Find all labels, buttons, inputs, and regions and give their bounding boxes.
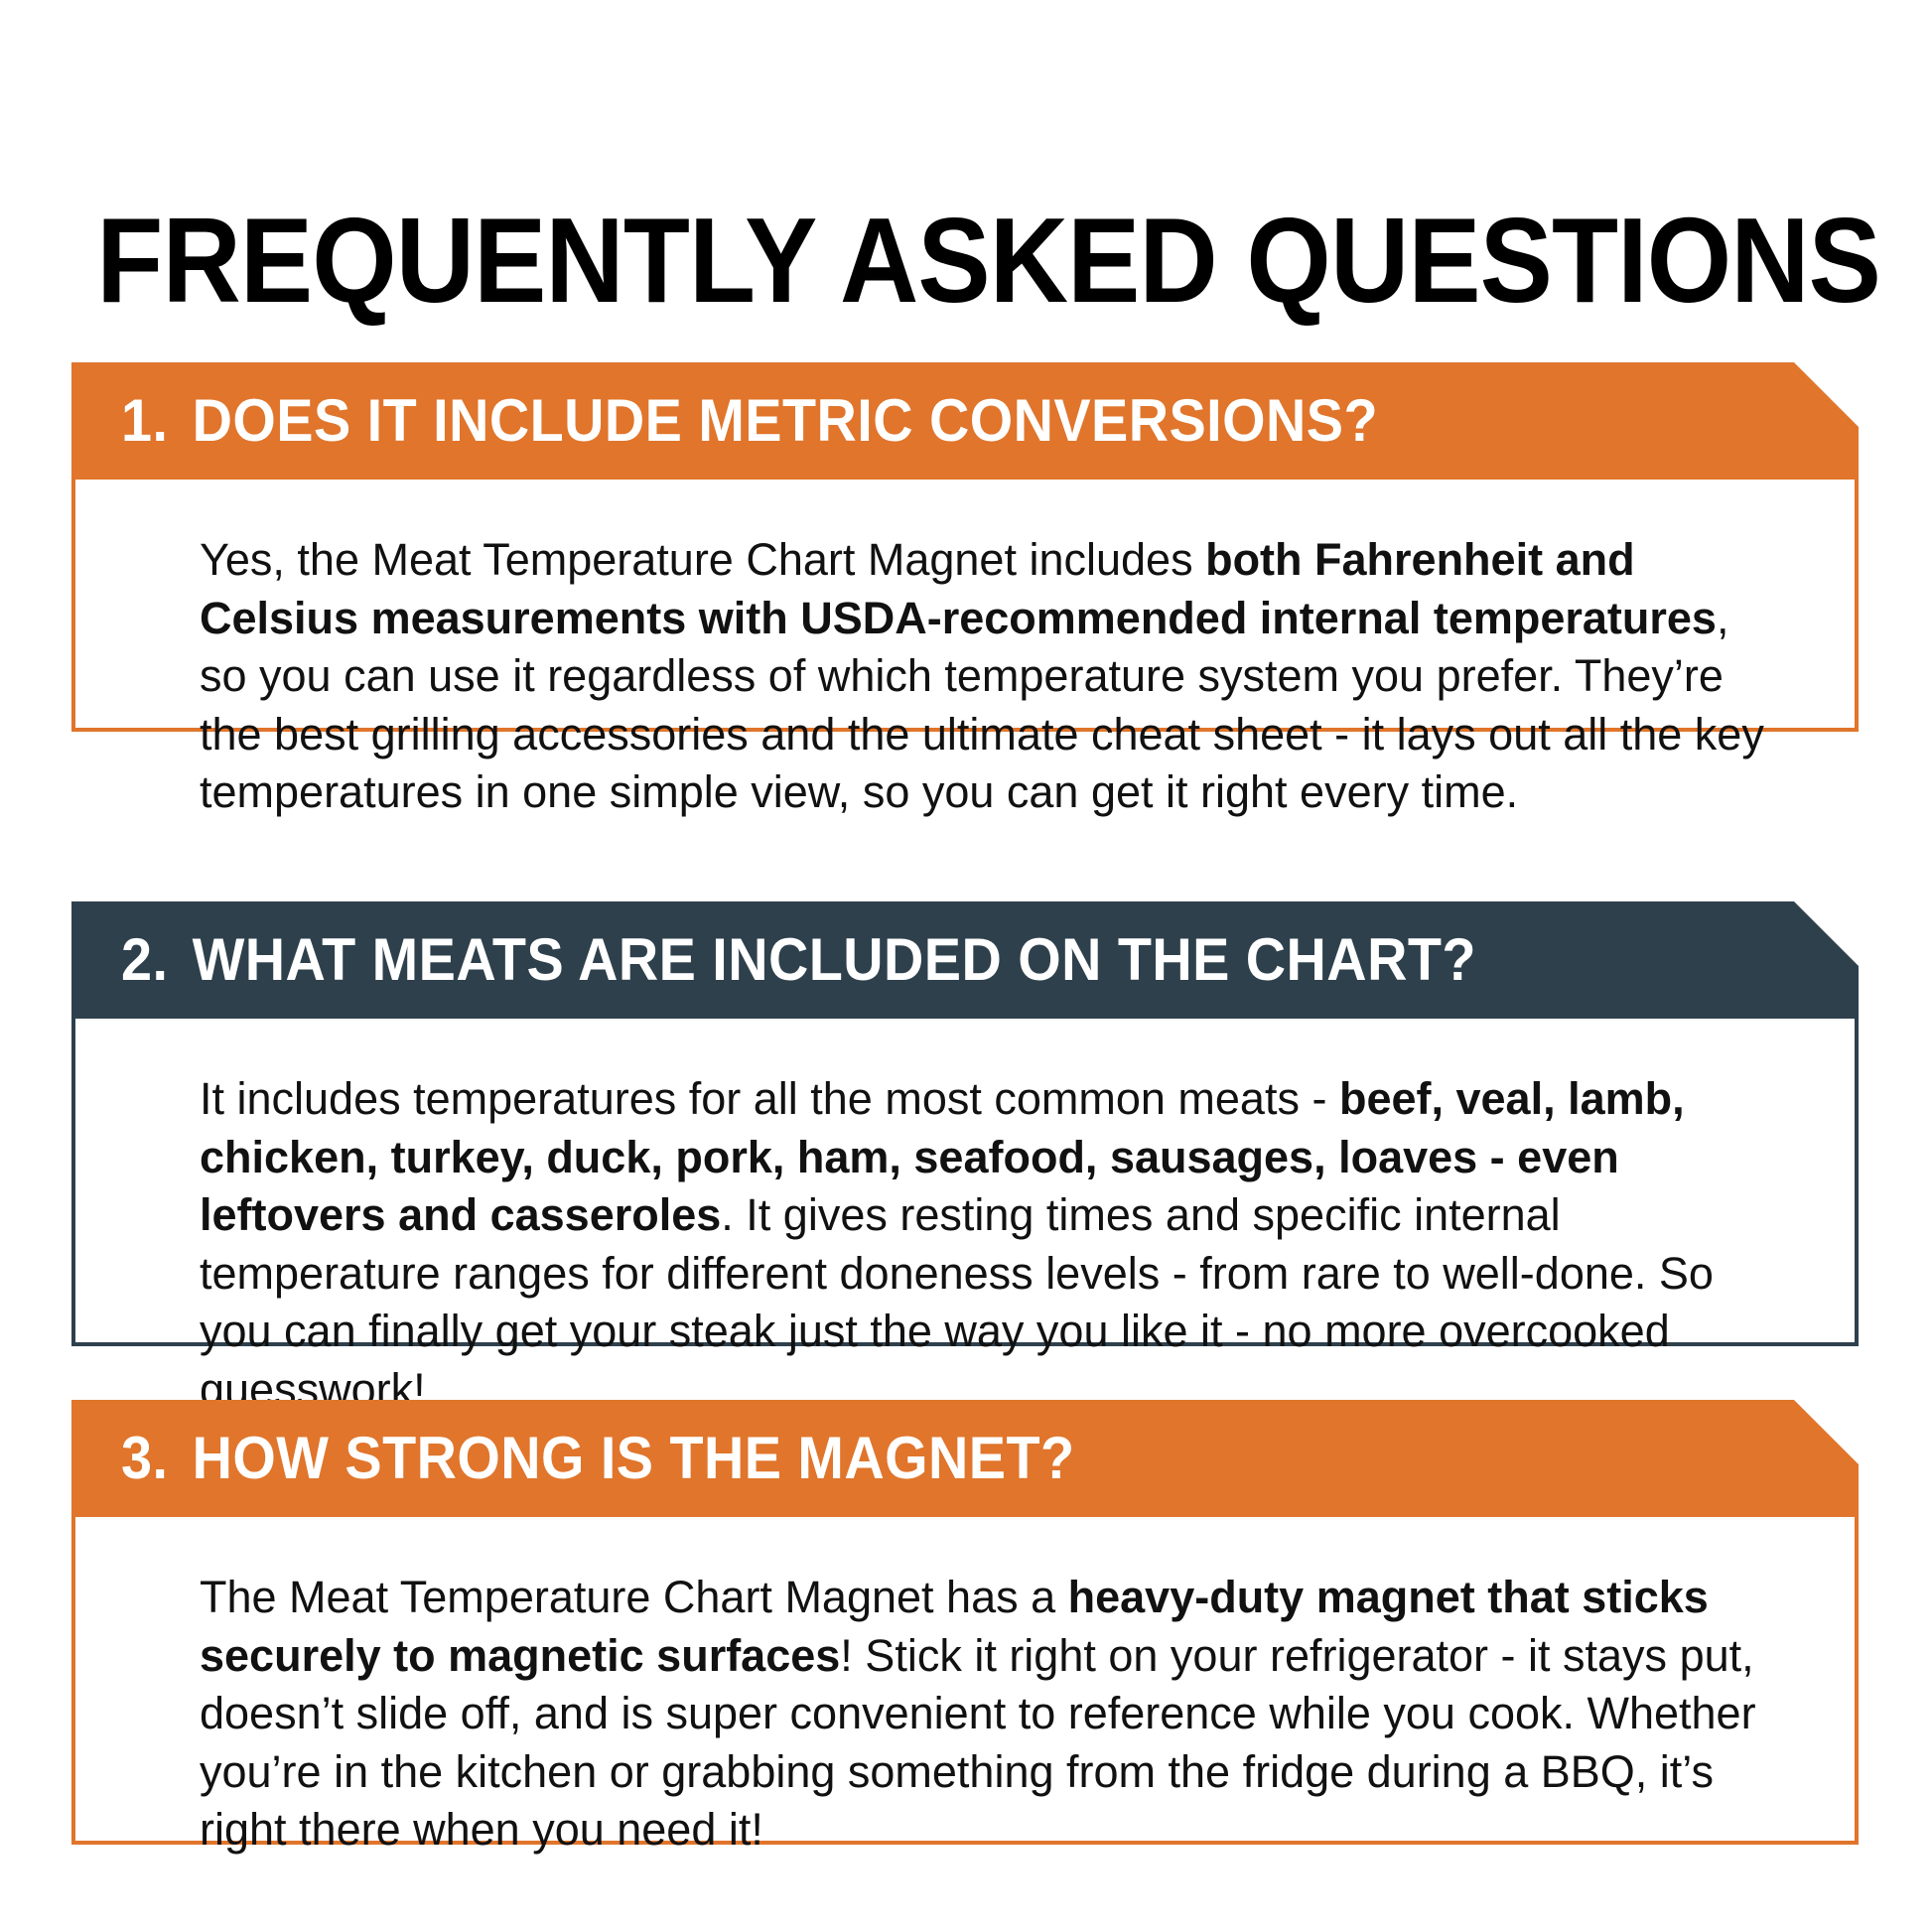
- faq-question-text-3: HOW STRONG IS THE MAGNET?: [193, 1425, 1075, 1491]
- faq-item-1: 1.DOES IT INCLUDE METRIC CONVERSIONS? Ye…: [71, 362, 1859, 732]
- faq-answer-3: The Meat Temperature Chart Magnet has a …: [200, 1569, 1783, 1860]
- faq-header-2[interactable]: 2.WHAT MEATS ARE INCLUDED ON THE CHART?: [71, 901, 1859, 1019]
- faq-question-3: 3.HOW STRONG IS THE MAGNET?: [121, 1429, 1075, 1488]
- faq-number-2: 2.: [121, 930, 168, 990]
- faq-body-3: The Meat Temperature Chart Magnet has a …: [71, 1517, 1859, 1845]
- faq-answer-2: It includes temperatures for all the mos…: [200, 1070, 1783, 1419]
- faq-question-text-1: DOES IT INCLUDE METRIC CONVERSIONS?: [193, 387, 1378, 454]
- faq-item-3: 3.HOW STRONG IS THE MAGNET? The Meat Tem…: [71, 1400, 1859, 1845]
- faq-number-3: 3.: [121, 1429, 168, 1488]
- faq-question-1: 1.DOES IT INCLUDE METRIC CONVERSIONS?: [121, 391, 1378, 451]
- faq-question-2: 2.WHAT MEATS ARE INCLUDED ON THE CHART?: [121, 930, 1476, 990]
- faq-item-2: 2.WHAT MEATS ARE INCLUDED ON THE CHART? …: [71, 901, 1859, 1346]
- faq-header-3[interactable]: 3.HOW STRONG IS THE MAGNET?: [71, 1400, 1859, 1517]
- faq-answer-1: Yes, the Meat Temperature Chart Magnet i…: [200, 531, 1783, 822]
- faq-header-1[interactable]: 1.DOES IT INCLUDE METRIC CONVERSIONS?: [71, 362, 1859, 480]
- faq-number-1: 1.: [121, 391, 168, 451]
- faq-body-2: It includes temperatures for all the mos…: [71, 1019, 1859, 1346]
- faq-question-text-2: WHAT MEATS ARE INCLUDED ON THE CHART?: [193, 926, 1476, 993]
- page-title: FREQUENTLY ASKED QUESTIONS: [96, 199, 1835, 322]
- faq-body-1: Yes, the Meat Temperature Chart Magnet i…: [71, 480, 1859, 732]
- faq-page: FREQUENTLY ASKED QUESTIONS 1.DOES IT INC…: [0, 0, 1932, 1932]
